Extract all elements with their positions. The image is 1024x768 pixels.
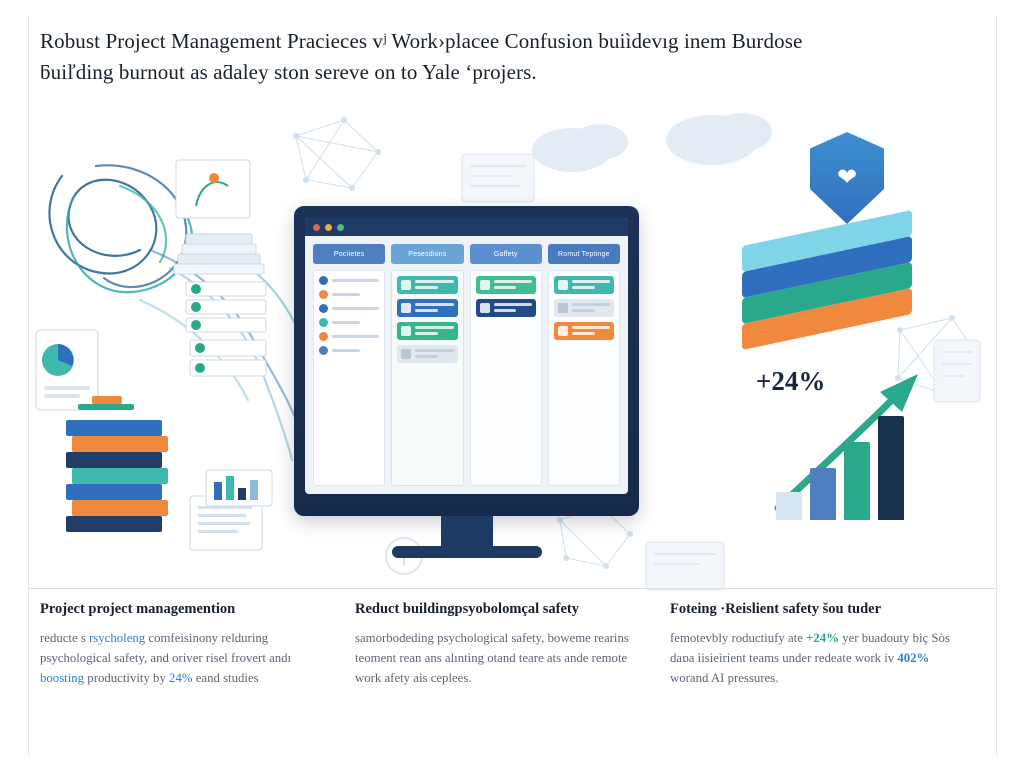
caption-text: eand studies: [193, 671, 259, 685]
bottom-divider: [28, 588, 996, 589]
yellow-dot-icon[interactable]: [325, 224, 332, 231]
list-item[interactable]: [319, 276, 379, 285]
list-item[interactable]: [319, 346, 379, 355]
caption-title: Foteing ·Reislient safety šou tuder: [670, 600, 955, 618]
window-titlebar: [305, 218, 628, 236]
list-item[interactable]: [319, 318, 379, 327]
caption-text: productivity by: [84, 671, 169, 685]
status-dot-icon: [319, 346, 328, 355]
card-thumb-icon: [558, 326, 568, 336]
column-header[interactable]: Romut Teptinge: [548, 244, 620, 264]
board-card[interactable]: [397, 322, 457, 340]
data-layers-stack: ❤: [742, 228, 932, 358]
list-item[interactable]: [319, 332, 379, 341]
caption-text: samorbodeding psychological safety, bowe…: [355, 631, 629, 685]
caption-highlight-green: +24%: [806, 631, 839, 645]
caption-text: femotevbly roductiufy ate: [670, 631, 806, 645]
chart-bar-4: [878, 416, 904, 520]
board-card[interactable]: [554, 322, 614, 340]
card-lines: [494, 280, 532, 289]
board-card[interactable]: [476, 299, 536, 317]
board-card[interactable]: [476, 276, 536, 294]
column-body: [548, 270, 620, 486]
card-lines: [572, 280, 610, 289]
right-edge-rule: [996, 16, 997, 756]
caption-title: Reduct buildingpsyobolomçal safety: [355, 600, 640, 618]
monitor-base: [392, 546, 542, 558]
task-line: [332, 349, 360, 352]
caption-block-1: Project project managemention reducte s …: [40, 600, 325, 688]
growth-percentage-label: +24%: [756, 366, 825, 397]
growth-chart: +24%: [770, 360, 970, 520]
column-header[interactable]: Pesesdions: [391, 244, 463, 264]
task-line: [332, 321, 360, 324]
column-body: [391, 270, 463, 486]
card-thumb-icon: [401, 303, 411, 313]
caption-body: samorbodeding psychological safety, bowe…: [355, 628, 640, 688]
list-item[interactable]: [319, 304, 379, 313]
card-thumb-icon: [480, 303, 490, 313]
caption-highlight: rsycholeng: [89, 631, 145, 645]
chart-bar-3: [844, 442, 870, 520]
column-body: [470, 270, 542, 486]
card-thumb-icon: [401, 280, 411, 290]
poster-canvas: Robust Project Management Pracieces vʲ W…: [0, 0, 1024, 768]
board-card[interactable]: [554, 276, 614, 294]
caption-body: reducte s rsycholeng comfeisinony reldur…: [40, 628, 325, 688]
card-lines: [494, 303, 532, 312]
caption-highlight-blue: 402%: [897, 651, 929, 665]
card-thumb-icon: [401, 326, 411, 336]
monitor-screen: Pocìietes Pesesdions: [305, 218, 628, 494]
caption-row: Project project managemention reducte s …: [40, 600, 984, 688]
board-column-safety: Gaffety: [470, 244, 542, 486]
column-header[interactable]: Pocìietes: [313, 244, 385, 264]
column-body: [313, 270, 385, 486]
headline-line-2: ƃuiľding burnout as aƌaley ston sereve o…: [40, 57, 984, 88]
green-dot-icon[interactable]: [337, 224, 344, 231]
caption-block-2: Reduct buildingpsyobolomçal safety samor…: [355, 600, 640, 688]
card-lines: [572, 326, 610, 335]
board-card[interactable]: [397, 345, 457, 363]
card-lines: [415, 303, 453, 312]
kanban-board: Pocìietes Pesesdions: [305, 236, 628, 494]
card-lines: [415, 349, 453, 358]
card-thumb-icon: [558, 303, 568, 313]
caption-text: reducte s: [40, 631, 89, 645]
column-header[interactable]: Gaffety: [470, 244, 542, 264]
task-line: [332, 335, 379, 338]
card-lines: [415, 326, 453, 335]
caption-body: femotevbly roductiufy ate +24% yer buado…: [670, 628, 955, 688]
card-thumb-icon: [558, 280, 568, 290]
caption-block-3: Foteing ·Reislient safety šou tuder femo…: [670, 600, 955, 688]
board-column-reporting: Romut Teptinge: [548, 244, 620, 486]
page-title: Robust Project Management Pracieces vʲ W…: [40, 26, 984, 88]
list-item[interactable]: [319, 290, 379, 299]
caption-highlight: boosting: [40, 671, 84, 685]
chart-bar-1: [776, 492, 802, 520]
caption-title: Project project managemention: [40, 600, 325, 618]
board-column-policies: Pocìietes: [313, 244, 385, 486]
status-dot-icon: [319, 332, 328, 341]
task-line: [332, 293, 360, 296]
monitor-illustration: Pocìietes Pesesdions: [294, 206, 639, 516]
card-lines: [415, 280, 453, 289]
board-card[interactable]: [554, 299, 614, 317]
card-lines: [572, 303, 610, 312]
caption-text: worand AI pressures.: [670, 671, 778, 685]
heart-icon: [480, 280, 490, 290]
task-line: [332, 279, 379, 282]
task-line: [332, 307, 379, 310]
shield-heart-icon: ❤: [810, 132, 884, 224]
board-card[interactable]: [397, 299, 457, 317]
heart-glyph: ❤: [837, 166, 857, 190]
caption-highlight: 24%: [169, 671, 192, 685]
status-dot-icon: [319, 276, 328, 285]
status-dot-icon: [319, 290, 328, 299]
card-thumb-icon: [401, 349, 411, 359]
board-card[interactable]: [397, 276, 457, 294]
monitor-stand: [441, 516, 493, 550]
red-dot-icon[interactable]: [313, 224, 320, 231]
left-edge-rule: [28, 16, 29, 756]
status-dot-icon: [319, 304, 328, 313]
headline-line-1: Robust Project Management Pracieces vʲ W…: [40, 29, 802, 53]
chart-bar-2: [810, 468, 836, 520]
status-dot-icon: [319, 318, 328, 327]
board-column-sessions: Pesesdions: [391, 244, 463, 486]
